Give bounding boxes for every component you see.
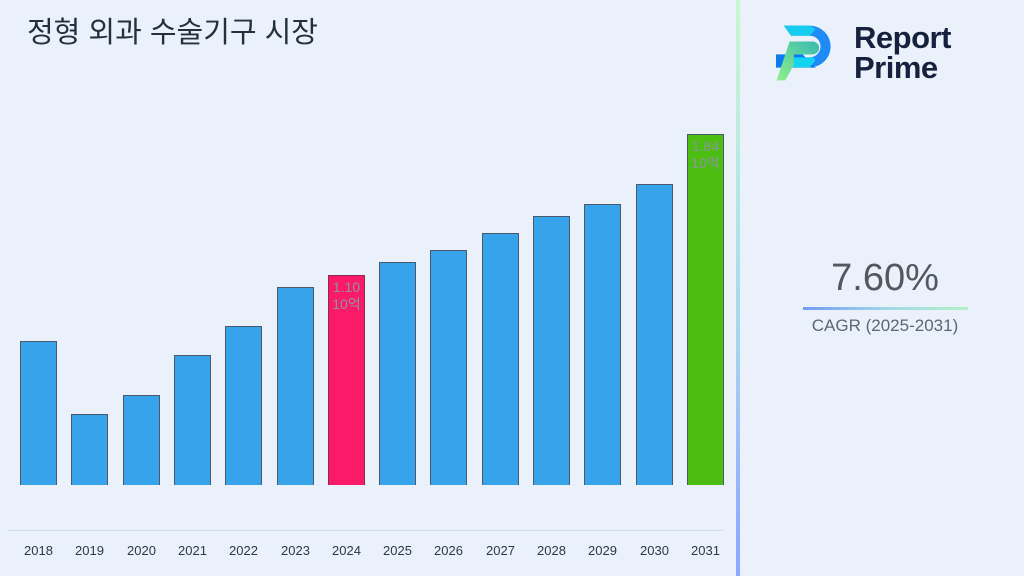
slide-root: 정형 외과 수술기구 시장 1.1010억1.8410억 20182019202… bbox=[0, 0, 1024, 576]
bar-2021[interactable] bbox=[174, 355, 211, 485]
bar-2029[interactable] bbox=[584, 204, 621, 485]
x-tick-2019: 2019 bbox=[60, 543, 120, 558]
cagr-divider-rule bbox=[803, 307, 968, 310]
bar-2019[interactable] bbox=[71, 414, 108, 485]
bar-2031[interactable] bbox=[687, 134, 724, 485]
x-tick-2029: 2029 bbox=[573, 543, 633, 558]
bar-value-label-2024: 1.1010억 bbox=[307, 279, 387, 313]
report-prime-logo-icon bbox=[768, 17, 840, 89]
brand-name: Report Prime bbox=[854, 23, 951, 84]
bar-value-unit-2031: 10억 bbox=[666, 155, 746, 172]
brand-name-line1: Report bbox=[854, 23, 951, 53]
x-tick-2022: 2022 bbox=[214, 543, 274, 558]
bar-2018[interactable] bbox=[20, 341, 57, 485]
bar-2022[interactable] bbox=[225, 326, 262, 485]
bar-value-unit-2024: 10억 bbox=[307, 296, 387, 313]
brand-panel: Report Prime 7.60% CAGR (2025-2031) bbox=[740, 0, 1024, 576]
x-tick-2026: 2026 bbox=[419, 543, 479, 558]
bar-value-label-2031: 1.8410억 bbox=[666, 138, 746, 172]
bar-2020[interactable] bbox=[123, 395, 160, 485]
bar-value-amount-2031: 1.84 bbox=[666, 138, 746, 155]
bar-2023[interactable] bbox=[277, 287, 314, 485]
bar-2026[interactable] bbox=[430, 250, 467, 485]
brand-logo-block: Report Prime bbox=[768, 14, 1008, 92]
cagr-caption: CAGR (2025-2031) bbox=[760, 315, 1010, 337]
bar-2030[interactable] bbox=[636, 184, 673, 485]
bar-2027[interactable] bbox=[482, 233, 519, 485]
chart-panel: 정형 외과 수술기구 시장 1.1010억1.8410억 20182019202… bbox=[0, 0, 737, 576]
x-tick-2031: 2031 bbox=[676, 543, 736, 558]
brand-name-line2: Prime bbox=[854, 53, 951, 83]
bar-2028[interactable] bbox=[533, 216, 570, 485]
cagr-block: 7.60% CAGR (2025-2031) bbox=[760, 255, 1010, 337]
chart-plot-area: 1.1010억1.8410억 bbox=[0, 0, 737, 531]
cagr-value: 7.60% bbox=[760, 255, 1010, 301]
bar-2025[interactable] bbox=[379, 262, 416, 485]
bar-value-amount-2024: 1.10 bbox=[307, 279, 387, 296]
x-axis-line bbox=[8, 530, 723, 531]
